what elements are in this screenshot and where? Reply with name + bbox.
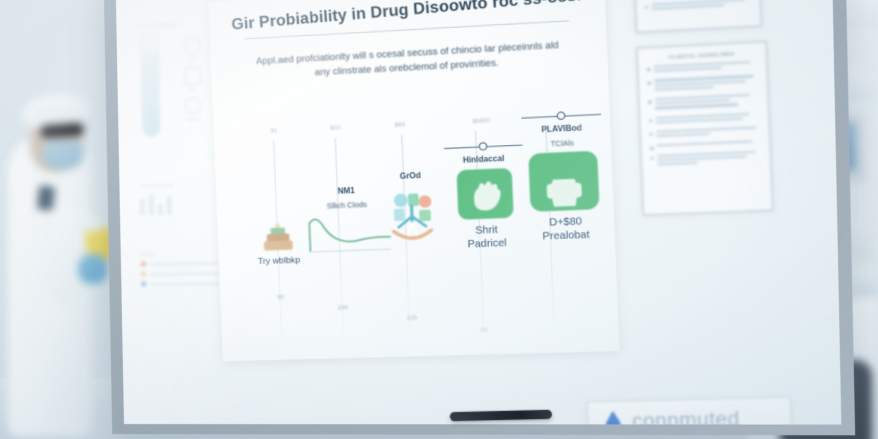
bullet-item [649,126,760,140]
reference-legend: Legend [141,250,220,286]
bullet-item [649,112,760,126]
stage-5-label: D+$80Prealobat [519,214,613,245]
stage-4-errorbar [444,139,523,153]
axis-tick-bottom-3: 07 [481,328,488,334]
stage-5-errorbar [521,109,601,123]
reference-section2-title: Instrument setup [139,182,217,189]
legend-dot-primary [141,261,146,266]
axis-tick-bottom-0: 90 [277,295,284,301]
id-badge [37,185,55,211]
axis-tick-top-0: $1 [271,128,278,134]
reference-title: Sample preparation [136,20,214,28]
poster-sheet: Gir Probiability in Drug Disoowto roc ss… [208,0,619,361]
stage-3-header: GrOd [374,170,448,183]
stage-4-header: Hinldaccal [442,153,525,167]
bullet-item [647,61,758,75]
legend-item [141,260,219,266]
plate-icon [184,67,201,85]
legend-dot-validation [141,282,146,287]
reference-caption-0: unit [171,56,213,61]
molecule-cluster-illustration-icon [382,184,441,244]
scientist-figure [0,58,114,439]
bullet-item [650,151,761,169]
stage-3: GrOd [374,170,450,245]
axis-tick-top-1: $23 [330,125,341,132]
axis-tick-bottom-2: 125 [407,315,418,321]
bullet-item [647,75,758,94]
water-drop-icon [604,411,624,425]
bullet-item [648,93,759,111]
face-mask-icon [42,140,84,170]
side-card-header: CLINICAL GUIDELINES [646,50,757,61]
reference-caption-2: read out [172,117,214,122]
bullet-item [645,0,751,13]
reference-icon-list: unit mix read out [171,36,215,128]
reference-caption-1: mix [172,87,214,92]
green-vial-icon [528,151,599,212]
poster-subtitle: Appl.aed profciationlty will s ocesal se… [243,38,573,84]
watermark-text: connmuted [632,409,741,425]
bullet-item [650,140,761,150]
flask-icon [183,37,200,55]
green-hand-icon [456,168,513,220]
lab-scene: Sample preparation unit mix read out Ins… [0,0,878,439]
stage-5: PLAVIBod TClAls D+$80Prealobat [515,108,613,245]
reference-section-2: Instrument setup [139,182,218,216]
reference-column: Sample preparation unit mix read out Ins… [136,20,220,324]
axis-tick-bottom-1: 150 [337,305,348,311]
stage-5-header: PLAVIBod [515,122,608,136]
legend-title: Legend [141,250,219,256]
blue-glove [78,254,108,284]
legend-item [141,281,219,287]
stage-5-subheader: TClAls [516,136,609,150]
side-card-top [634,0,762,33]
test-tube-icon [140,32,160,137]
stage-row: Try wblbkp NM1 Sllich Clods [232,125,608,344]
axis-tick-top-3: $5400 [472,118,490,125]
stacked-samples-illustration-icon [260,223,296,251]
watermark-badge: connmuted [587,397,793,425]
stage-1-label: Try wblbkp [243,254,315,268]
whiteboard-surface: Sample preparation unit mix read out Ins… [116,0,842,425]
reader-icon [184,97,201,115]
stage-1: Try wblbkp [242,222,315,267]
legend-item [141,271,219,277]
axis-tick-top-2: $93 [394,122,405,129]
side-card-guidelines: CLINICAL GUIDELINES [636,41,773,216]
stage-4-label: ShritPadricel [445,222,529,252]
whiteboard-frame: Sample preparation unit mix read out Ins… [104,0,855,435]
legend-dot-control [141,271,146,276]
reference-bar-mini-chart [140,192,219,216]
